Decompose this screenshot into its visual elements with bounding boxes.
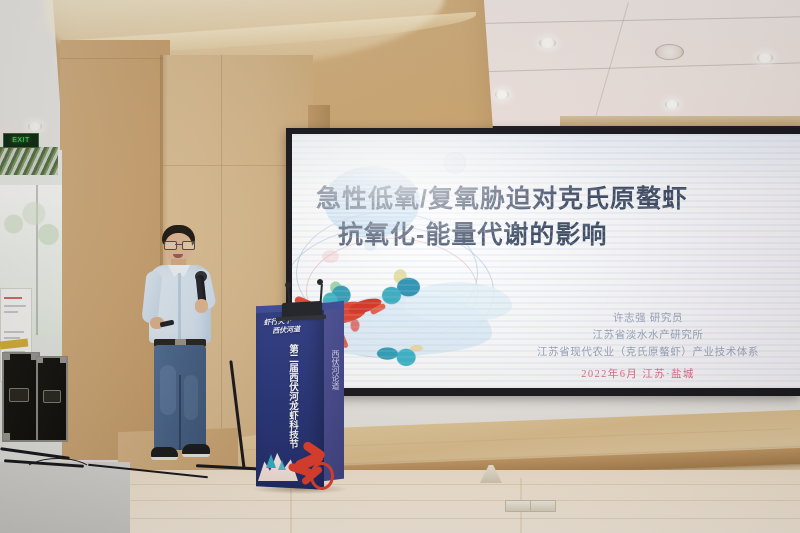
glasses-icon [164,241,193,248]
presentation-photo-scene: EXIT [0,0,800,533]
downlight-icon [665,100,679,109]
ceiling-wood-trim [560,116,800,126]
gooseneck-microphone-head [317,279,323,285]
jeans-inseam [179,375,181,450]
outdoor-foliage [2,196,60,266]
cable [22,458,94,490]
floor-outlet-box [530,500,556,512]
gooseneck-microphone-head [285,282,291,288]
shoe-sole [151,457,178,460]
downlight-icon [28,122,42,131]
presenter-right-hand [195,299,208,313]
flight-case [2,352,40,442]
podium-crayfish-graphic [286,442,330,486]
ceiling-speaker-icon [655,44,684,60]
podium-side-text: 西伏河论道 [328,350,340,390]
downlight-icon [757,53,773,63]
screen-glare [292,134,592,264]
exit-sign-label: EXIT [12,137,30,144]
exit-sign: EXIT [3,133,39,148]
hanging-plant-row [0,147,58,175]
flight-case [36,356,68,442]
projection-screen: 急性低氧/复氧胁迫对克氏原螯虾 抗氧化-能量代谢的影响 许志强 研究员 江苏省淡… [292,134,800,388]
floor-outlet-box [505,500,531,512]
jeans-highlight [160,365,176,415]
podium: 虾行天下 西伏河道 第二届西伏河龙虾科技节 西伏河论道 [256,302,342,492]
downlight-icon [539,38,556,48]
jeans-highlight [184,375,198,420]
podium-event-name: 第二届西伏河龙虾科技节 [282,344,297,449]
shoe-sole [182,454,210,457]
downlight-icon [495,90,509,99]
presenter-shirt-placket [178,273,181,339]
presenter-person [140,225,226,480]
